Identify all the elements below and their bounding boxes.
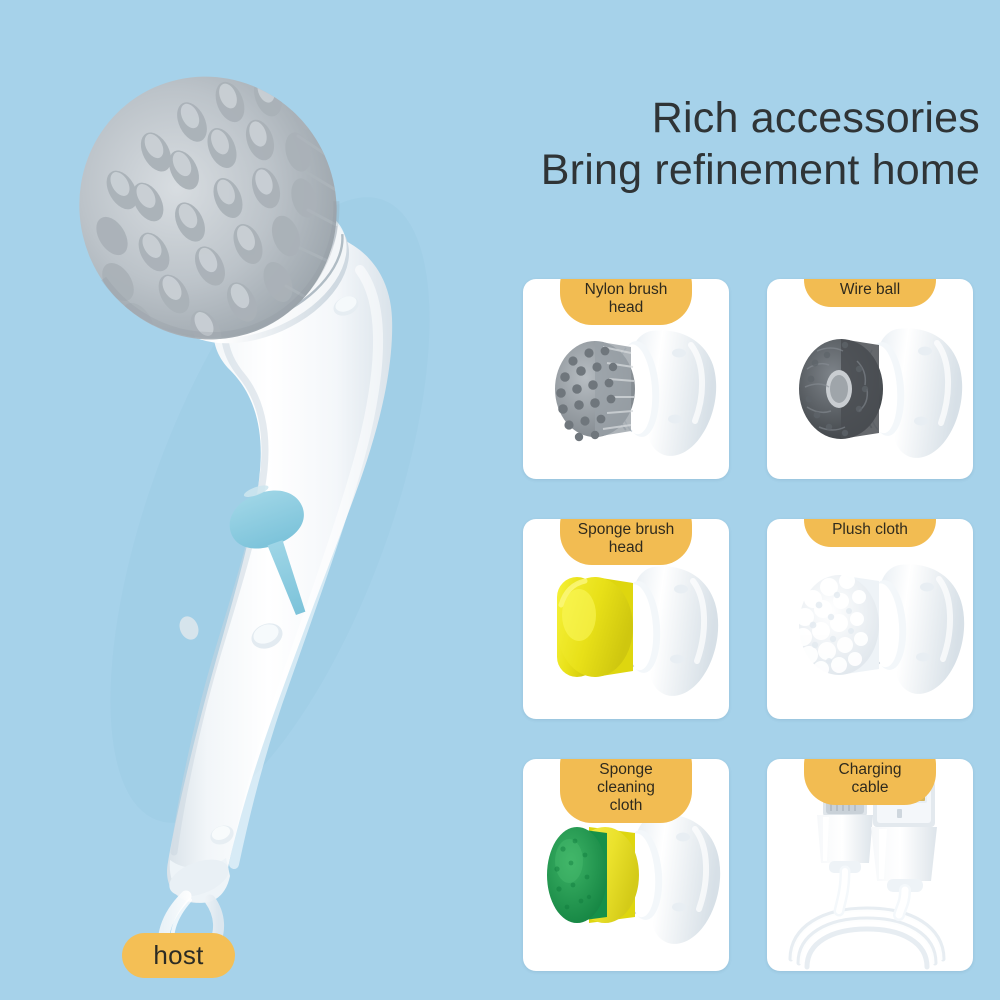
host-product-illustration <box>60 40 460 940</box>
accessory-label-nylon-brush-head: Nylon brush head <box>560 279 692 325</box>
accessory-card-nylon-brush-head[interactable]: Nylon brush head <box>523 279 729 479</box>
accessory-card-charging-cable[interactable]: Charging cable <box>767 759 973 971</box>
headline-line-1: Rich accessories <box>652 94 980 142</box>
accessory-card-sponge-cleaning-cloth[interactable]: Sponge cleaning cloth <box>523 759 729 971</box>
accessory-label-plush-cloth: Plush cloth <box>804 519 936 547</box>
accessory-label-wire-ball: Wire ball <box>804 279 936 307</box>
accessory-label-sponge-cleaning-cloth: Sponge cleaning cloth <box>560 759 692 823</box>
accessory-card-plush-cloth[interactable]: Plush cloth <box>767 519 973 719</box>
host-badge: host <box>122 933 235 978</box>
plush-cloth-icon <box>767 519 973 719</box>
wire-ball-icon <box>767 279 973 479</box>
product-infographic: Rich accessories Bring refinement home <box>0 0 1000 1000</box>
accessory-label-sponge-brush-head: Sponge brush head <box>560 519 692 565</box>
accessory-card-wire-ball[interactable]: Wire ball <box>767 279 973 479</box>
accessory-label-charging-cable: Charging cable <box>804 759 936 805</box>
host-badge-label: host <box>153 940 203 971</box>
accessory-card-sponge-brush-head[interactable]: Sponge brush head <box>523 519 729 719</box>
headline-line-2: Bring refinement home <box>400 144 980 196</box>
host-product-image <box>60 40 460 940</box>
accessory-grid: Nylon brush head <box>523 279 973 971</box>
page-title: Rich accessories Bring refinement home <box>400 92 980 197</box>
